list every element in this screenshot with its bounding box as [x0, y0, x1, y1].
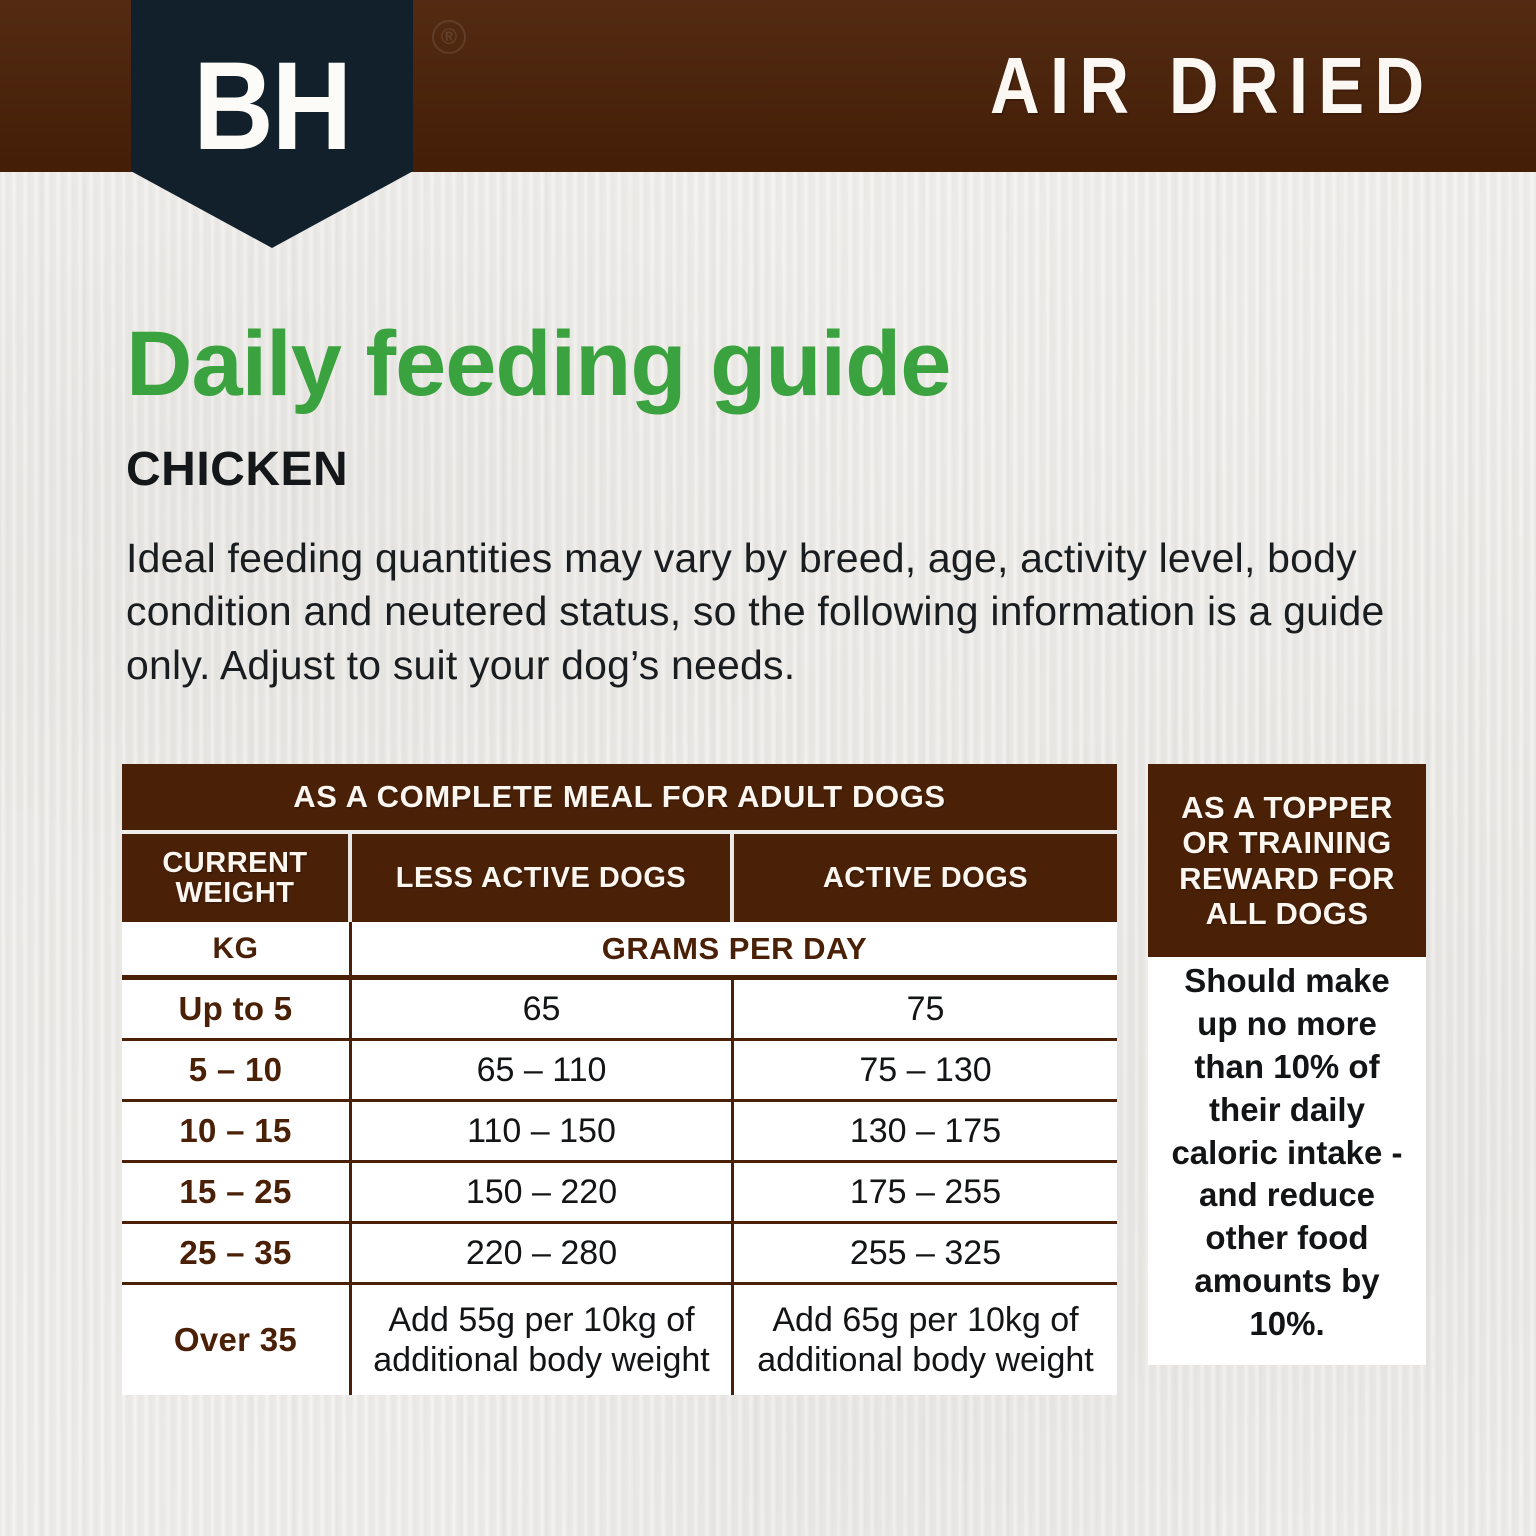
cell-less-active: Add 55g per 10kg of additional body weig… [352, 1285, 734, 1395]
table-row: 5 – 10 65 – 110 75 – 130 [122, 1041, 1117, 1102]
cell-active: 75 [734, 980, 1117, 1038]
topper-panel: AS A TOPPER OR TRAINING REWARD FOR ALL D… [1148, 764, 1426, 1365]
topper-panel-body: Should make up no more than 10% of their… [1148, 957, 1426, 1365]
cell-active: 175 – 255 [734, 1163, 1117, 1221]
cell-active: Add 65g per 10kg of additional body weig… [734, 1285, 1117, 1395]
registered-trademark-icon: ® [432, 20, 466, 54]
column-header-weight-line1: CURRENT [162, 847, 307, 879]
cell-less-active: 150 – 220 [352, 1163, 734, 1221]
column-header-less-active-dogs: LESS ACTIVE DOGS [352, 834, 730, 922]
table-row: 25 – 35 220 – 280 255 – 325 [122, 1224, 1117, 1285]
feeding-table: AS A COMPLETE MEAL FOR ADULT DOGS CURREN… [122, 764, 1117, 1395]
cell-less-active: 220 – 280 [352, 1224, 734, 1282]
cell-weight: Up to 5 [122, 980, 352, 1038]
units-kg-label: KG [122, 922, 352, 975]
cell-weight: Over 35 [122, 1285, 352, 1395]
cell-active: 255 – 325 [734, 1224, 1117, 1282]
topper-panel-heading: AS A TOPPER OR TRAINING REWARD FOR ALL D… [1148, 764, 1426, 957]
cell-weight: 5 – 10 [122, 1041, 352, 1099]
cell-less-active: 110 – 150 [352, 1102, 734, 1160]
cell-less-active: 65 [352, 980, 734, 1038]
table-row: Over 35 Add 55g per 10kg of additional b… [122, 1285, 1117, 1395]
page-title: Daily feeding guide [126, 318, 950, 410]
cell-active: 130 – 175 [734, 1102, 1117, 1160]
column-header-current-weight: CURRENT WEIGHT [122, 834, 348, 922]
table-column-header-row: CURRENT WEIGHT LESS ACTIVE DOGS ACTIVE D… [122, 834, 1117, 922]
table-caption: AS A COMPLETE MEAL FOR ADULT DOGS [122, 764, 1117, 830]
table-units-row: KG GRAMS PER DAY [122, 922, 1117, 980]
intro-paragraph: Ideal feeding quantities may vary by bre… [126, 532, 1426, 692]
table-row: 15 – 25 150 – 220 175 – 255 [122, 1163, 1117, 1224]
air-dried-banner-title: AIR DRIED [215, 0, 1536, 172]
column-header-weight-line2: WEIGHT [176, 877, 295, 909]
cell-less-active: 65 – 110 [352, 1041, 734, 1099]
column-header-active-dogs: ACTIVE DOGS [734, 834, 1117, 922]
flavour-subtitle: CHICKEN [126, 446, 348, 494]
cell-weight: 25 – 35 [122, 1224, 352, 1282]
cell-active: 75 – 130 [734, 1041, 1117, 1099]
table-row: 10 – 15 110 – 150 130 – 175 [122, 1102, 1117, 1163]
units-grams-per-day-label: GRAMS PER DAY [352, 922, 1117, 975]
table-row: Up to 5 65 75 [122, 980, 1117, 1041]
cell-weight: 15 – 25 [122, 1163, 352, 1221]
cell-weight: 10 – 15 [122, 1102, 352, 1160]
